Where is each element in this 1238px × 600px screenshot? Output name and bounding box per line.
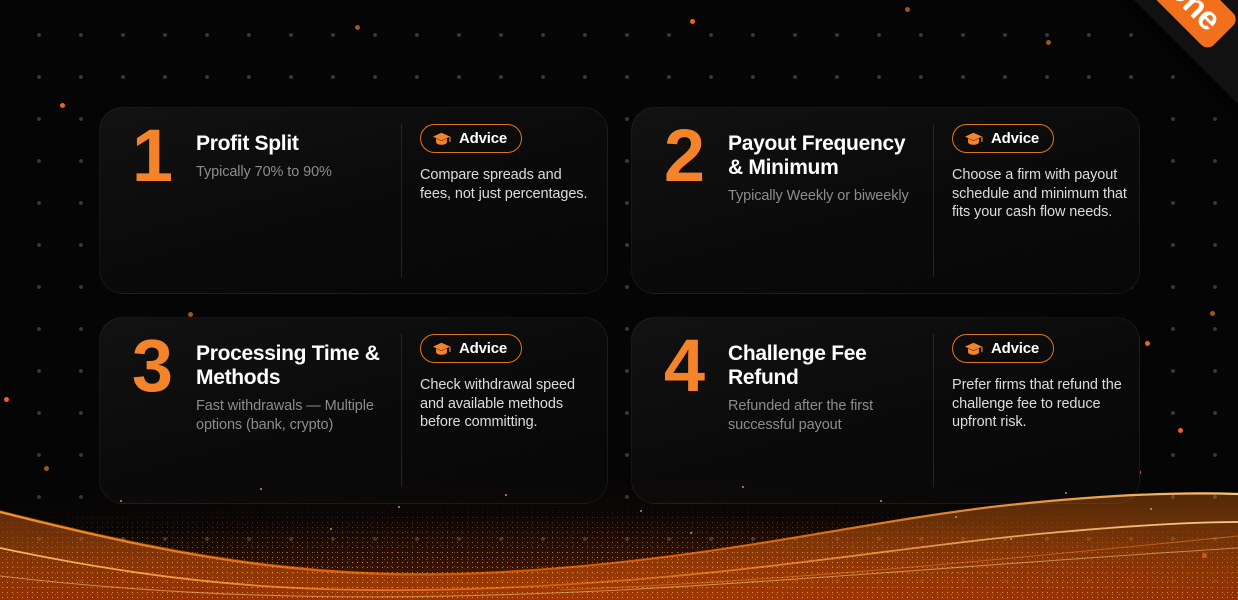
payout-criteria-grid: 1 Profit Split Typically 70% to 90% — [99, 107, 1140, 504]
graduation-cap-icon — [964, 132, 983, 146]
card-2-advice-badge[interactable]: Advice — [952, 124, 1054, 153]
criteria-card-1[interactable]: 1 Profit Split Typically 70% to 90% — [99, 107, 608, 294]
card-3-subtitle: Fast withdrawals — Multiple options (ban… — [196, 397, 391, 436]
card-4-advice-label: Advice — [991, 340, 1039, 357]
card-4-title: Challenge Fee Refund — [728, 342, 923, 390]
card-1-advice-text: Compare spreads and fees, not just perce… — [420, 166, 595, 203]
card-1-advice-label: Advice — [459, 130, 507, 147]
card-2-number: 2 — [652, 122, 714, 190]
card-1-title: Profit Split — [196, 132, 332, 156]
card-4-advice-badge[interactable]: Advice — [952, 334, 1054, 363]
card-4-subtitle: Refunded after the first successful payo… — [728, 397, 923, 436]
graduation-cap-icon — [964, 342, 983, 356]
card-1-advice: Advice Compare spreads and fees, not jus… — [402, 108, 608, 293]
card-3-advice-text: Check withdrawal speed and available met… — [420, 376, 595, 432]
card-3-advice-badge[interactable]: Advice — [420, 334, 522, 363]
card-2-advice-text: Choose a firm with payout schedule and m… — [952, 166, 1127, 222]
graduation-cap-icon — [432, 342, 451, 356]
card-1-subtitle: Typically 70% to 90% — [196, 163, 332, 182]
card-2-advice: Advice Choose a firm with payout schedul… — [934, 108, 1140, 293]
bottom-fire-wave — [0, 470, 1238, 600]
card-2-subtitle: Typically Weekly or biweekly — [728, 187, 923, 206]
wave-sparks — [0, 470, 1238, 600]
card-2-primary: 2 Payout Frequency & Minimum Typically W… — [632, 108, 933, 293]
card-4-number: 4 — [652, 332, 714, 400]
criteria-card-2[interactable]: 2 Payout Frequency & Minimum Typically W… — [631, 107, 1140, 294]
card-2-title: Payout Frequency & Minimum — [728, 132, 923, 180]
card-3-title: Processing Time & Methods — [196, 342, 391, 390]
card-1-number: 1 — [120, 122, 182, 190]
card-2-advice-label: Advice — [991, 130, 1039, 147]
graduation-cap-icon — [432, 132, 451, 146]
card-1-advice-badge[interactable]: Advice — [420, 124, 522, 153]
card-3-advice-label: Advice — [459, 340, 507, 357]
card-4-advice-text: Prefer firms that refund the challenge f… — [952, 376, 1127, 432]
card-1-primary: 1 Profit Split Typically 70% to 90% — [100, 108, 401, 293]
page-canvas: ded One Funded One 1 Profit Split Typica… — [0, 0, 1238, 600]
card-3-number: 3 — [120, 332, 182, 400]
